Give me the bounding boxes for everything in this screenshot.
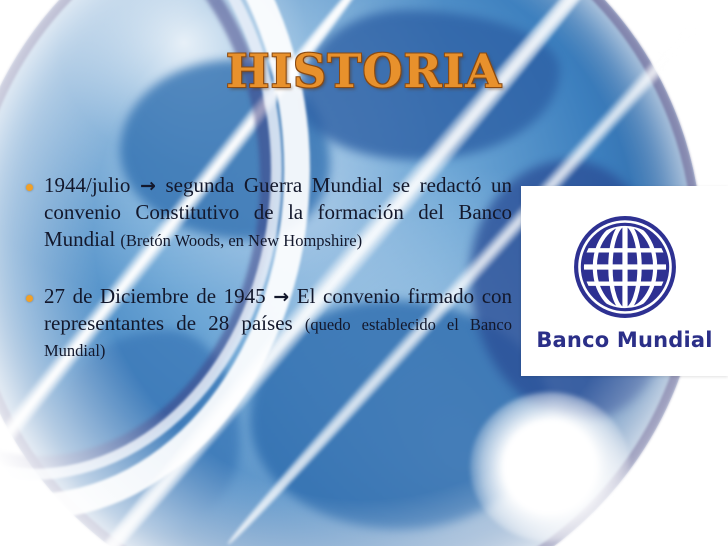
presentation-slide: HISTORIA 1944/julio → segunda Guerra Mun… [0, 0, 728, 546]
bullet-text: 1944/julio → segunda Guerra Mundial se r… [44, 172, 512, 253]
bullet-note: (Bretón Woods, en New Hompshire) [120, 231, 362, 250]
banco-mundial-logo-card: Banco Mundial [521, 186, 728, 376]
bullet-item: 1944/julio → segunda Guerra Mundial se r… [26, 172, 512, 253]
bullet-dot-icon [26, 295, 33, 302]
arrow-icon: → [273, 286, 289, 308]
bullet-item: 27 de Diciembre de 1945 → El convenio fi… [26, 283, 512, 364]
background-light-glow [470, 392, 630, 542]
banco-mundial-logo-caption: Banco Mundial [536, 328, 712, 352]
slide-body: 1944/julio → segunda Guerra Mundial se r… [26, 172, 512, 393]
world-bank-globe-icon [573, 215, 677, 319]
slide-title: HISTORIA [0, 44, 728, 98]
bullet-main-a: 1944/julio [44, 173, 130, 197]
arrow-icon: → [140, 175, 156, 197]
bullet-dot-icon [26, 184, 33, 191]
bullet-text: 27 de Diciembre de 1945 → El convenio fi… [44, 283, 512, 364]
bullet-main-a: 27 de Diciembre de 1945 [44, 284, 266, 308]
